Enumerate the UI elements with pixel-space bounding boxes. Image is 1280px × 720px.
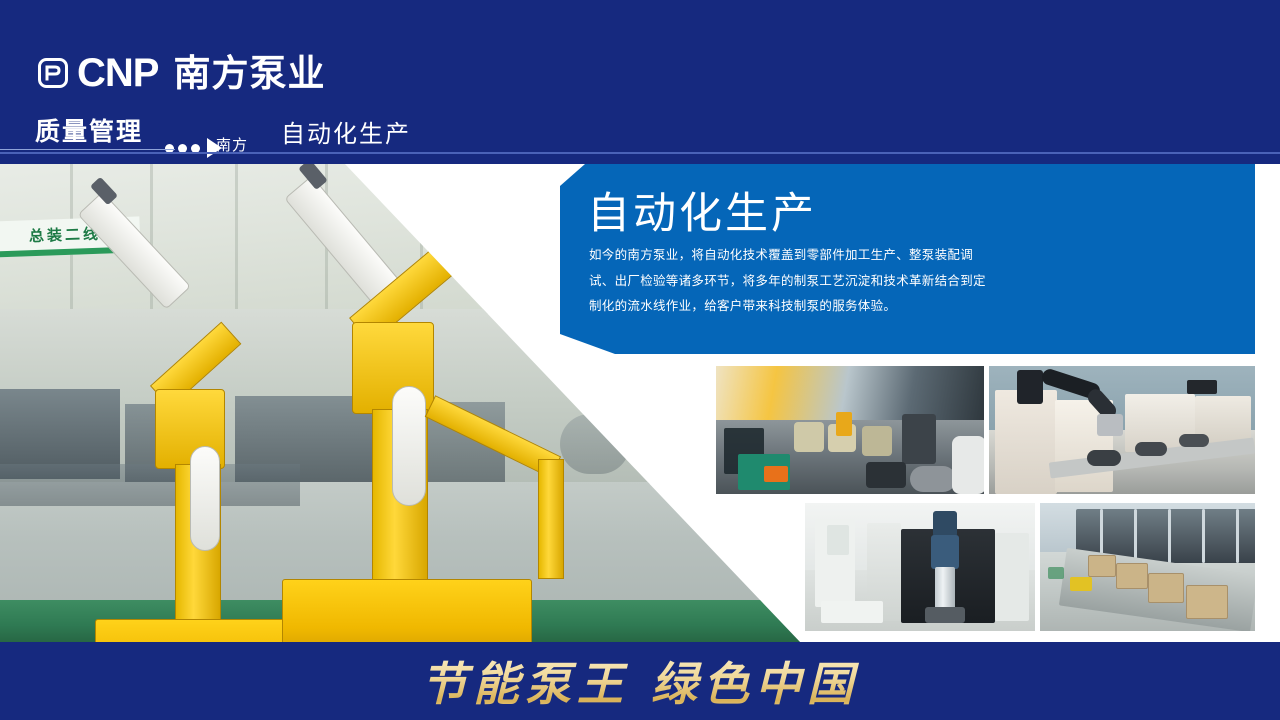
- logo-latin-text: CNP: [77, 53, 158, 93]
- thumb-pump-testing[interactable]: [805, 503, 1035, 631]
- logo-chinese-text: 南方泵业: [173, 55, 325, 92]
- footer-slogan: 节能泵王 绿色中国: [0, 642, 1280, 720]
- section-label: 质量管理: [35, 112, 143, 148]
- progress-marker: [165, 138, 222, 158]
- thumb-packing-conveyor[interactable]: [1040, 503, 1255, 631]
- header-rule-short: [0, 149, 175, 150]
- header-rule: [0, 152, 1280, 154]
- cnp-logo-mark-icon: [38, 58, 68, 88]
- slide-body: 总装二线: [0, 164, 1280, 642]
- brand-logo: CNP 南方泵业: [38, 53, 325, 93]
- info-panel-title: 自动化生产: [587, 179, 817, 241]
- page-title: 自动化生产: [281, 114, 411, 149]
- slide-header: CNP 南方泵业 质量管理 南方 自动化生产: [0, 0, 1280, 155]
- thumb-robot-arm[interactable]: [989, 366, 1255, 494]
- slide-root: CNP 南方泵业 质量管理 南方 自动化生产: [0, 0, 1280, 720]
- thumb-assembly-line[interactable]: [716, 366, 984, 494]
- info-panel-body: 如今的南方泵业，将自动化技术覆盖到零部件加工生产、整泵装配调试、出厂检验等诸多环…: [589, 242, 989, 319]
